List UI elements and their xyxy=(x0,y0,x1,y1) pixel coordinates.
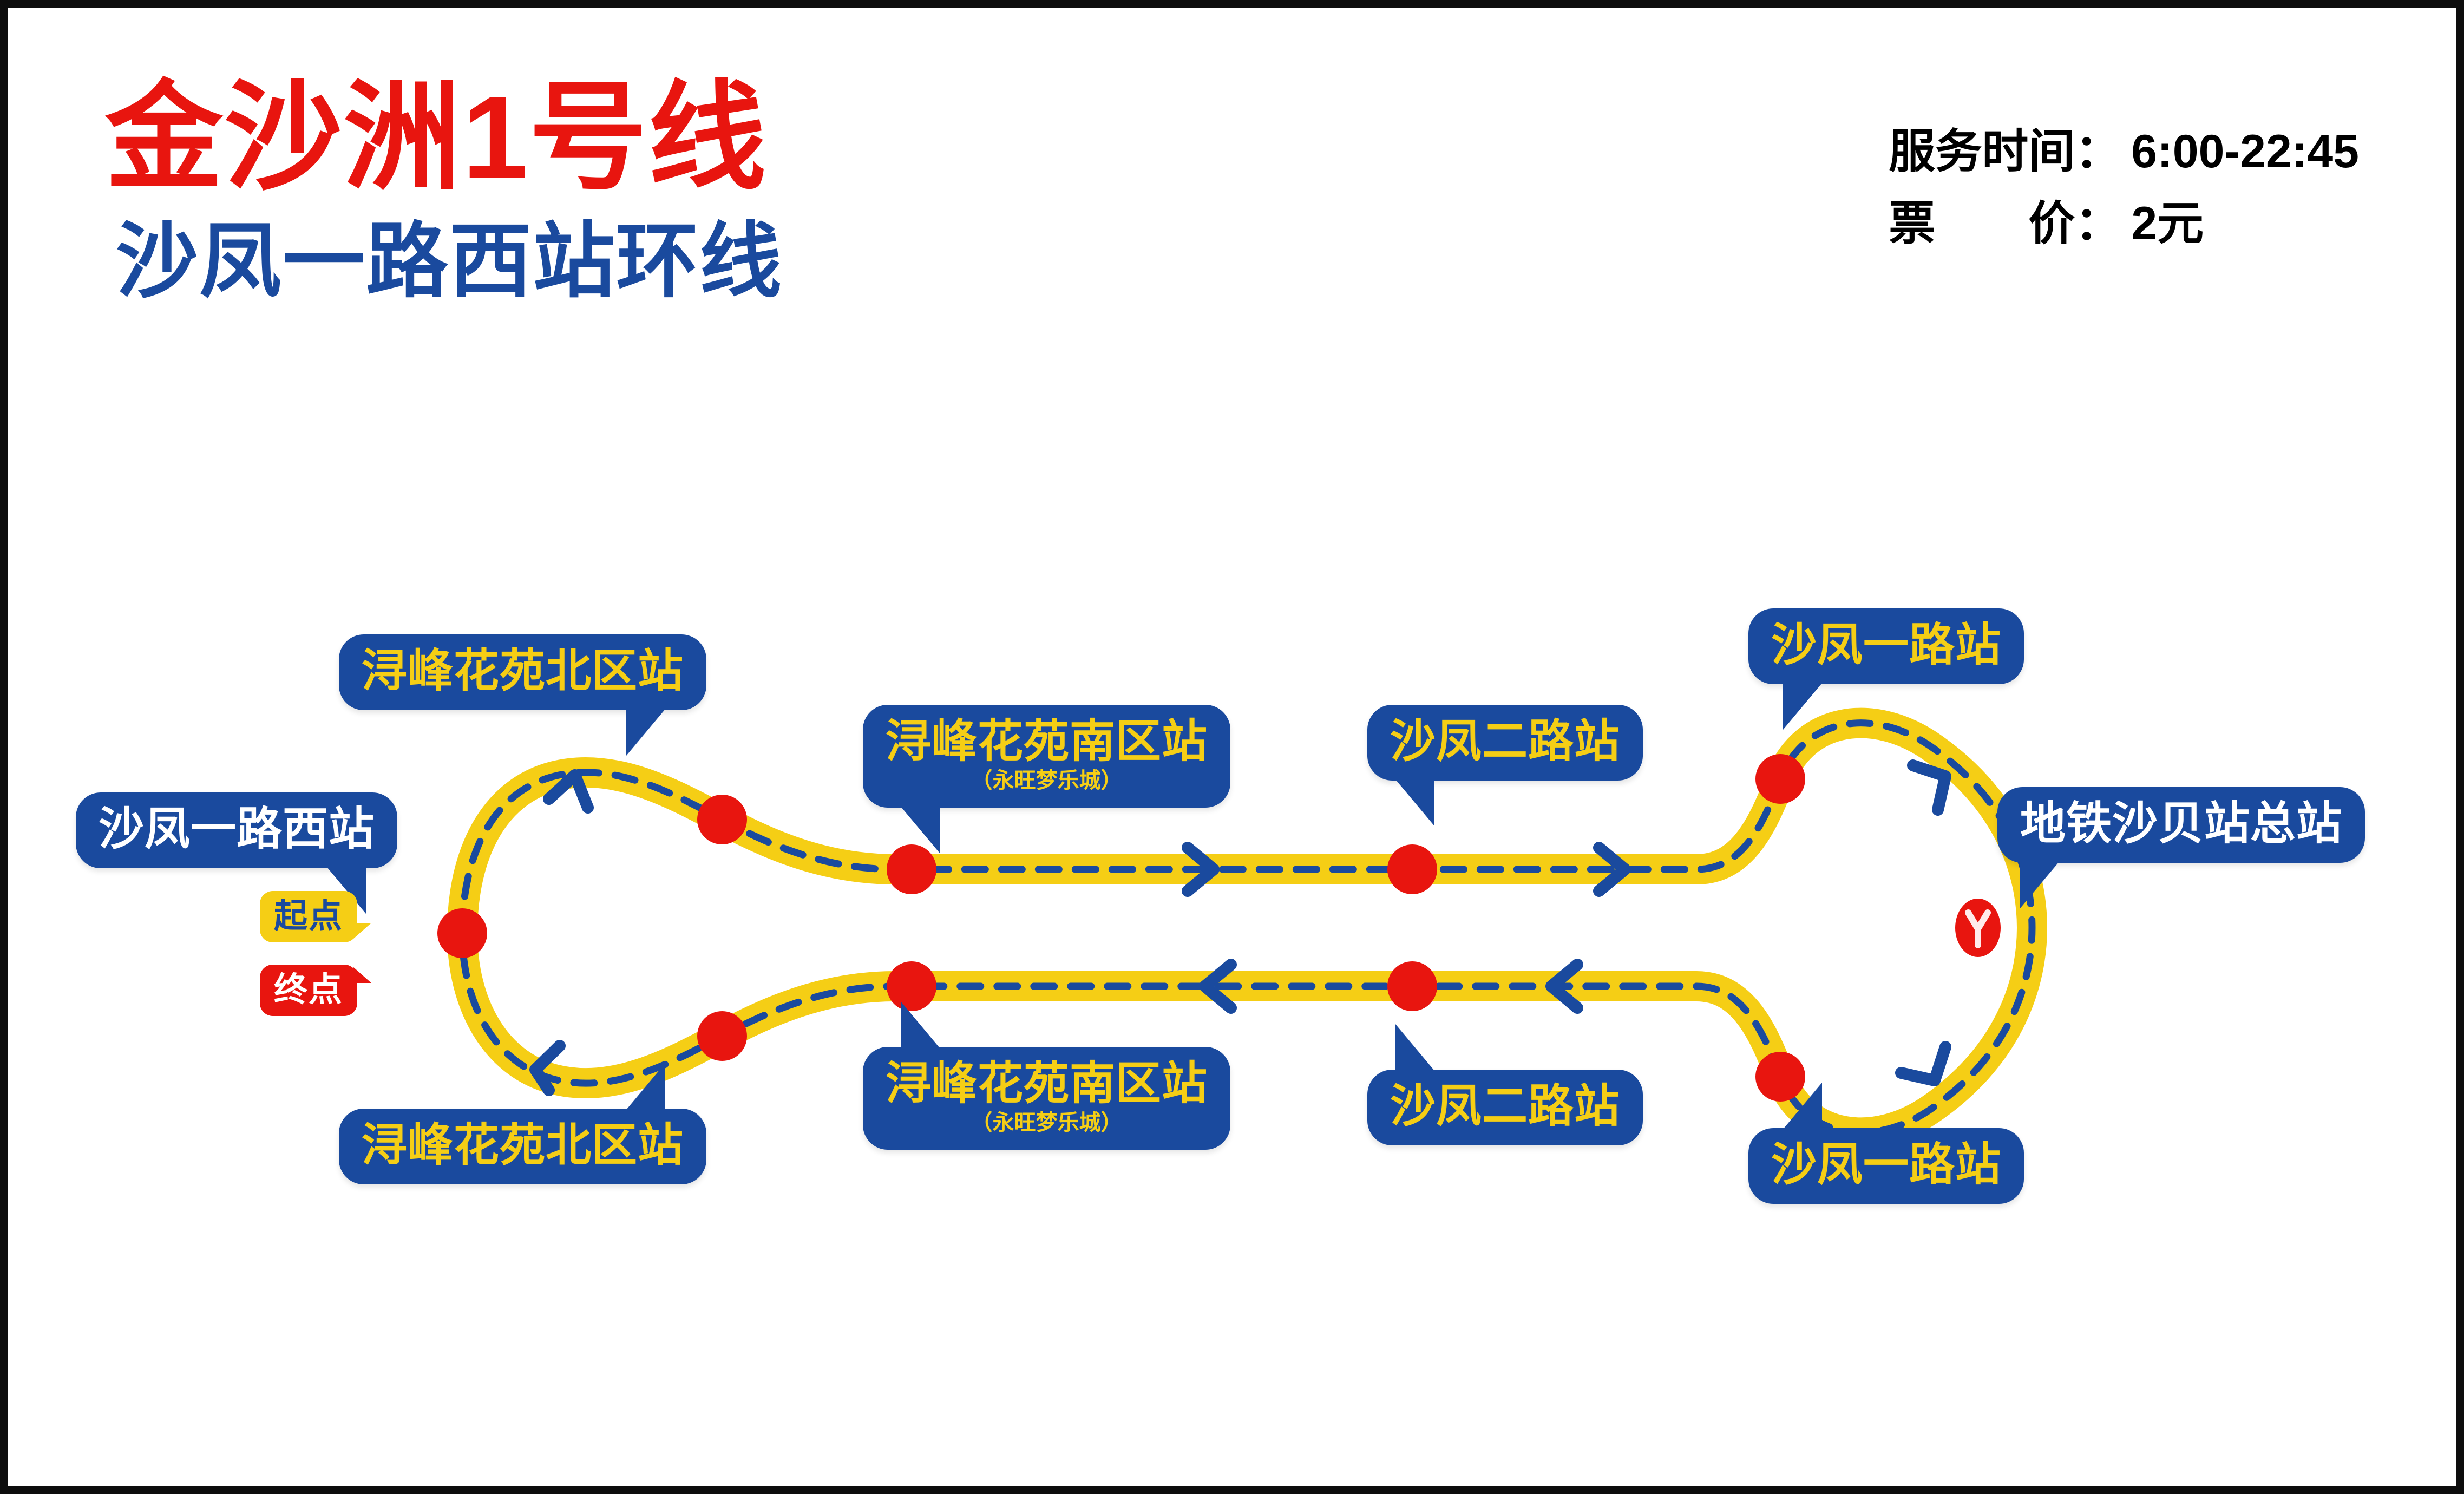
service-hours-label: 服务时间： xyxy=(1889,116,2121,188)
station-label-xunfeng-south-down[interactable]: 浔峰花苑南区站 （永旺梦乐城） xyxy=(863,1047,1230,1150)
station-name: 沙凤一路西站 xyxy=(99,803,375,854)
fare-label: 票 价： xyxy=(1889,188,2121,260)
bubble-tail xyxy=(1783,1083,1822,1129)
fare-value: 2元 xyxy=(2131,188,2204,260)
station-label-xunfeng-north-up[interactable]: 浔峰花苑北区站 xyxy=(339,634,706,710)
arrow-east-1 xyxy=(1188,848,1214,891)
station-dot-shafeng1-up[interactable] xyxy=(1755,754,1805,804)
bubble-tail xyxy=(2020,862,2059,908)
poster-canvas: 金沙洲1号线 沙凤一路西站环线 服务时间： 6:00-22:45 票 价： 2元 xyxy=(8,8,2456,1486)
station-dot-xunfeng-north-down[interactable] xyxy=(697,1011,747,1061)
end-badge: 终点 xyxy=(260,965,357,1016)
start-badge-tail xyxy=(353,923,371,939)
bubble-tail xyxy=(1783,683,1822,730)
station-name: 浔峰花苑南区站 xyxy=(886,716,1208,766)
station-name: 地铁沙贝站总站 xyxy=(2020,798,2342,849)
station-dots xyxy=(437,754,2001,1102)
fare-row: 票 价： 2元 xyxy=(1889,188,2359,260)
station-label-terminus-metro[interactable]: 地铁沙贝站总站 xyxy=(1997,787,2365,863)
station-subname: （永旺梦乐城） xyxy=(886,768,1208,794)
station-name: 沙凤二路站 xyxy=(1390,1080,1620,1131)
station-name: 浔峰花苑北区站 xyxy=(362,1119,684,1170)
route-line-base xyxy=(462,723,2032,1133)
route-subtitle: 沙凤一路西站环线 xyxy=(116,217,1296,307)
end-label: 终点 xyxy=(274,971,343,1008)
station-name: 沙凤一路站 xyxy=(1771,619,2001,670)
station-name: 浔峰花苑南区站 xyxy=(886,1058,1208,1109)
station-dot-shafeng2-up[interactable] xyxy=(1387,844,1437,894)
arrow-loop-right-bottom xyxy=(1901,1047,1945,1080)
route-map-poster: 金沙洲1号线 沙凤一路西站环线 服务时间： 6:00-22:45 票 价： 2元 xyxy=(0,0,2464,1494)
bubble-tail xyxy=(626,1063,665,1110)
bubble-tail xyxy=(901,1001,940,1048)
direction-arrows xyxy=(535,765,1945,1090)
arrow-west-2 xyxy=(1551,965,1577,1008)
station-name: 沙凤一路站 xyxy=(1771,1139,2001,1190)
station-dot-shafeng2-down[interactable] xyxy=(1387,961,1437,1011)
station-dot-terminus-west[interactable] xyxy=(437,908,487,958)
bubble-tail xyxy=(901,807,940,853)
station-dot-xunfeng-north-up[interactable] xyxy=(697,795,747,844)
station-name: 沙凤二路站 xyxy=(1390,716,1620,766)
bubble-tail xyxy=(626,709,665,756)
station-label-xunfeng-north-down[interactable]: 浔峰花苑北区站 xyxy=(339,1109,706,1184)
start-label: 起点 xyxy=(274,897,343,935)
bubble-tail xyxy=(1395,1024,1434,1071)
arrow-loop-right-top xyxy=(1913,765,1945,810)
arrow-west-1 xyxy=(1205,965,1231,1008)
route-line-dash xyxy=(462,723,2032,1133)
station-label-shafeng2-up[interactable]: 沙凤二路站 xyxy=(1367,705,1643,781)
service-hours-row: 服务时间： 6:00-22:45 xyxy=(1889,116,2359,188)
station-label-shafeng1-down[interactable]: 沙凤一路站 xyxy=(1748,1128,2024,1204)
station-label-shafeng2-down[interactable]: 沙凤二路站 xyxy=(1367,1070,1643,1145)
arrow-loop-left-bottom xyxy=(535,1046,560,1090)
header-block: 金沙洲1号线 沙凤一路西站环线 xyxy=(105,78,1296,307)
page-title: 金沙洲1号线 xyxy=(105,78,1296,198)
start-badge: 起点 xyxy=(260,891,357,942)
station-label-xunfeng-south-up[interactable]: 浔峰花苑南区站 （永旺梦乐城） xyxy=(863,705,1230,808)
metro-interchange-icon[interactable] xyxy=(1955,899,2001,957)
arrow-east-2 xyxy=(1599,848,1625,891)
station-label-terminus-west[interactable]: 沙凤一路西站 xyxy=(76,792,397,868)
arrow-loop-left-top xyxy=(549,775,588,808)
service-info-block: 服务时间： 6:00-22:45 票 价： 2元 xyxy=(1889,116,2359,260)
station-name: 浔峰花苑北区站 xyxy=(362,645,684,696)
station-subname: （永旺梦乐城） xyxy=(886,1110,1208,1136)
bubble-tail xyxy=(1395,779,1434,826)
service-hours-value: 6:00-22:45 xyxy=(2131,116,2359,188)
station-label-shafeng1-up[interactable]: 沙凤一路站 xyxy=(1748,608,2024,684)
end-badge-tail xyxy=(353,967,371,983)
